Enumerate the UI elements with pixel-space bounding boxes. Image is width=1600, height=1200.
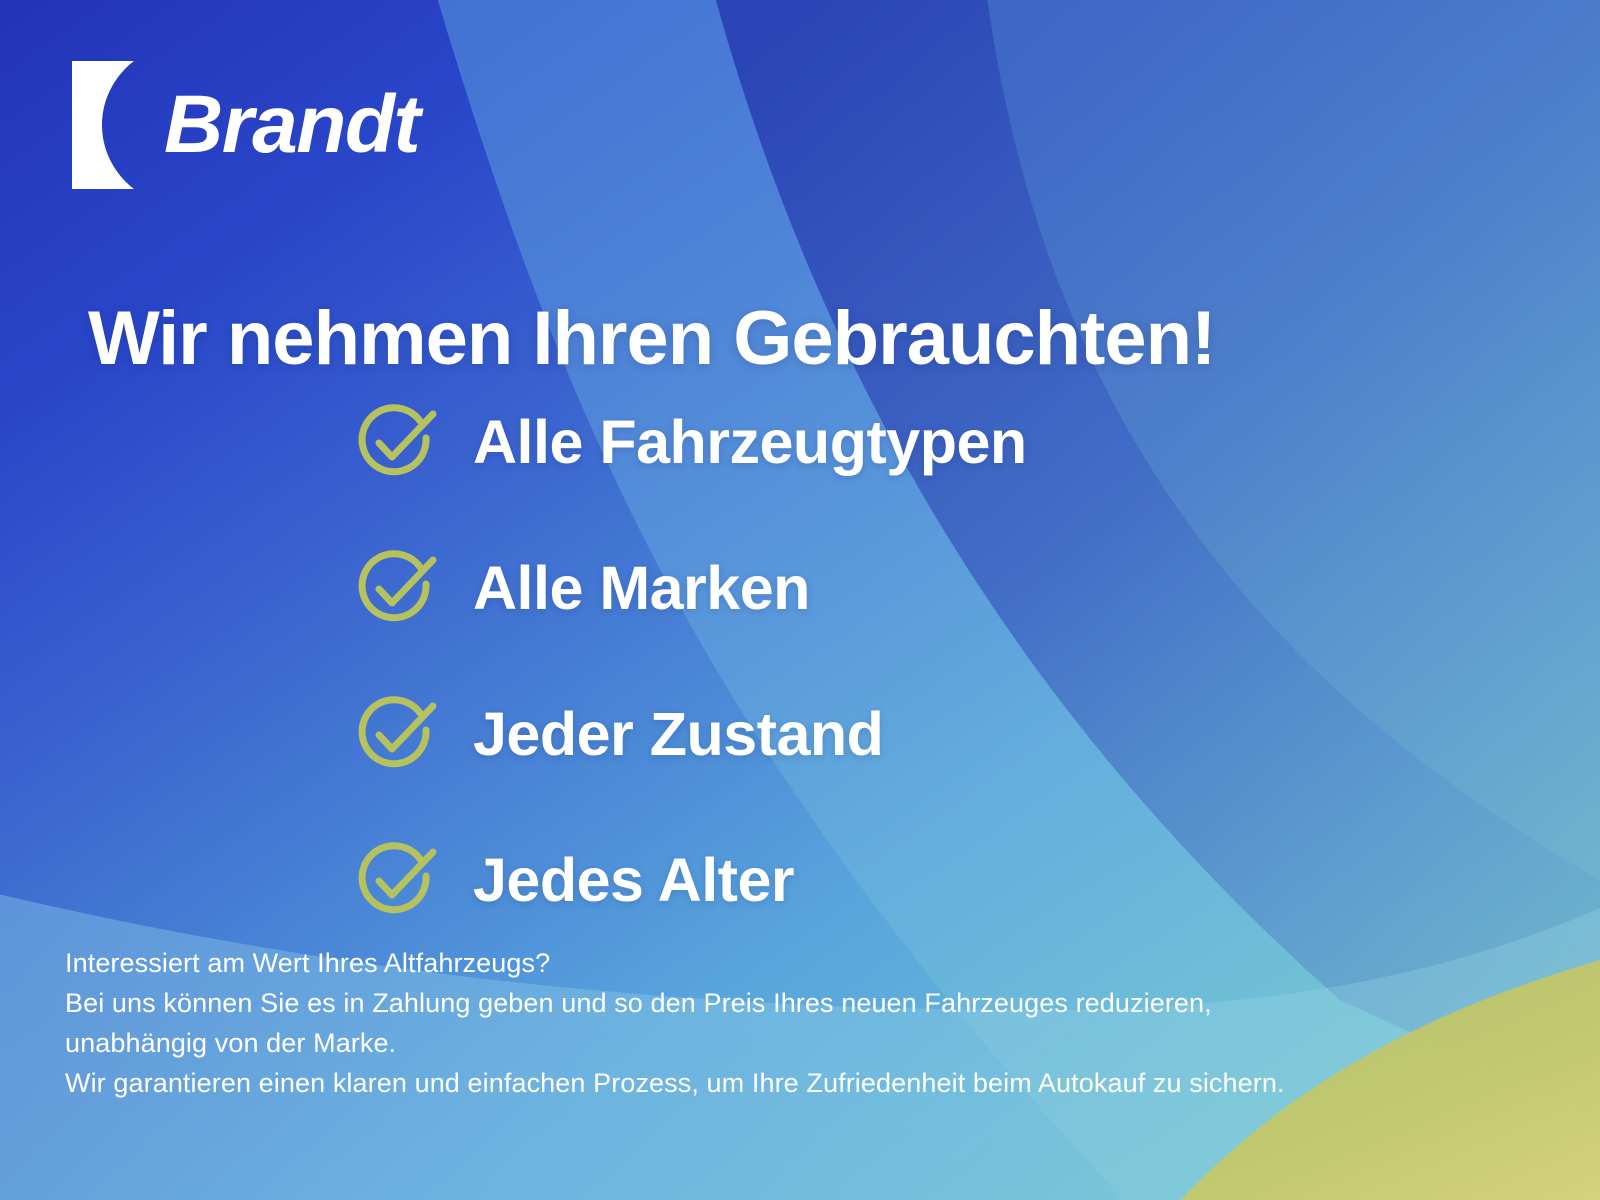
benefit-label: Jeder Zustand [473, 704, 883, 765]
brand-logo: Brandt [72, 55, 419, 195]
benefits-list: Alle Fahrzeugtypen Alle Marken Jeder Zus… [355, 398, 1027, 924]
brand-name: Brandt [164, 84, 419, 166]
arc-shape-upper-right [980, 0, 1600, 880]
list-item: Jeder Zustand [355, 690, 1027, 778]
list-item: Jedes Alter [355, 836, 1027, 924]
promo-banner: Brandt Wir nehmen Ihren Gebrauchten! All… [0, 0, 1600, 1200]
footer-line: Interessiert am Wert Ihres Altfahrzeugs? [65, 944, 1285, 984]
list-item: Alle Marken [355, 544, 1027, 632]
benefit-label: Alle Fahrzeugtypen [473, 412, 1027, 473]
benefit-label: Alle Marken [473, 558, 810, 619]
check-circle-icon [355, 692, 439, 776]
brandt-crescent-mark-icon [72, 61, 150, 189]
footer-line: unabhängig von der Marke. [65, 1024, 1285, 1064]
check-circle-icon [355, 546, 439, 630]
page-title: Wir nehmen Ihren Gebrauchten! [88, 299, 1215, 379]
footer-text: Interessiert am Wert Ihres Altfahrzeugs?… [65, 944, 1285, 1104]
footer-line: Bei uns können Sie es in Zahlung geben u… [65, 984, 1285, 1024]
check-circle-icon [355, 838, 439, 922]
check-circle-icon [355, 400, 439, 484]
list-item: Alle Fahrzeugtypen [355, 398, 1027, 486]
benefit-label: Jedes Alter [473, 850, 794, 911]
footer-line: Wir garantieren einen klaren und einfach… [65, 1064, 1285, 1104]
